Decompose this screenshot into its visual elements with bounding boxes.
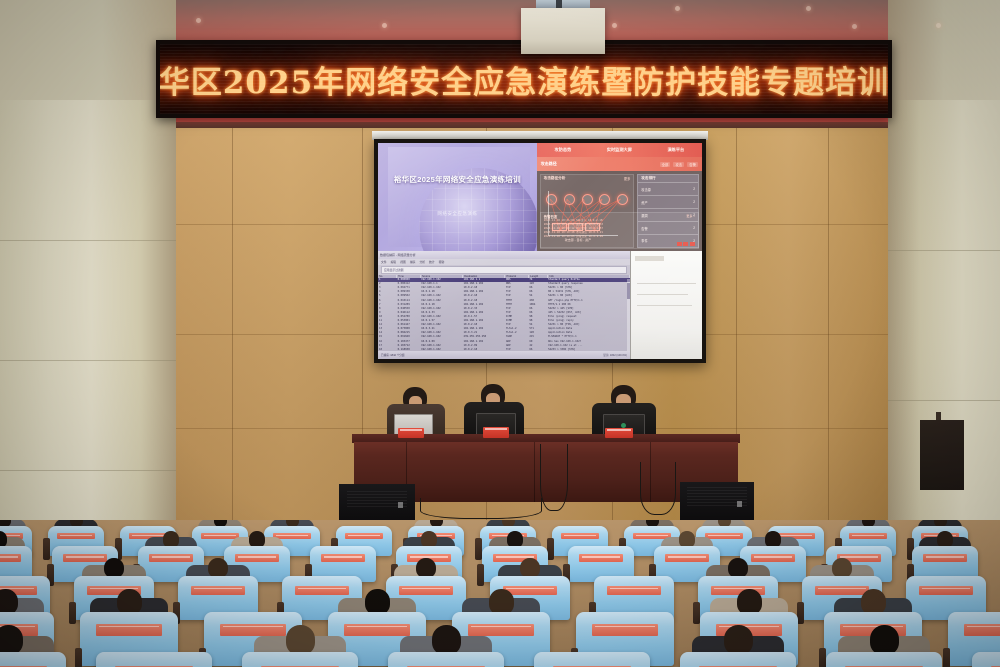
seat-reserved-label [63, 554, 108, 562]
capture-cell: 10.0.2.33 [463, 307, 505, 310]
dashboard-tab[interactable]: 演练平台 [667, 147, 684, 153]
capture-cell: 54 [528, 323, 547, 326]
capture-cell: 239.255.255.250 [463, 335, 505, 338]
capture-cell: 0.010114 [397, 299, 420, 302]
capture-status-right: 显示: 1842 (100.0%) [603, 353, 627, 357]
capture-cell: 66 [528, 307, 547, 310]
capture-cell: 0.103712 [397, 344, 420, 347]
capture-cell: Echo (ping) request [547, 315, 630, 318]
seat-armrest [75, 648, 82, 667]
capture-cell: 192.168.1.102 is at ... [547, 344, 630, 347]
ceiling-light-dot [612, 23, 617, 28]
capture-cell: 10.0.2.09 [463, 344, 505, 347]
capture-cell: 0.091660 [397, 335, 420, 338]
seat-reserved-label [579, 554, 624, 562]
capture-cell: 0.103477 [397, 340, 420, 343]
audience-seat[interactable] [680, 652, 796, 667]
capture-cell: 192.168.1.102 [463, 327, 505, 330]
capture-window-title: 数据包捕获 - 网络流量分析 [380, 253, 416, 257]
display-filter-placeholder: 应用显示过滤器 [384, 268, 404, 272]
capture-packet-row[interactable]: 130.07300810.0.3.21192.168.1.102TLSv1.25… [378, 327, 630, 331]
seat-armrest [547, 538, 554, 560]
rank-row: 攻击源 2 [638, 182, 698, 195]
capture-packet-row[interactable]: 70.03128910.0.2.18192.168.1.102HTTP1064H… [378, 302, 630, 306]
capture-cell: 10.0.2.18 [463, 286, 505, 289]
capture-cell: 10.0.2.18 [420, 303, 462, 306]
capture-packet-row[interactable]: 40.00933810.0.2.18192.168.1.102TCP6680 >… [378, 290, 630, 294]
capture-cell: 12 [378, 323, 397, 326]
audience-seat[interactable] [0, 652, 66, 667]
attendee-head [0, 625, 23, 655]
capture-cell: 192.168.1.1 [463, 278, 505, 281]
capture-cell: 0.031289 [397, 303, 420, 306]
floor-cable [640, 462, 676, 515]
attendee-head [832, 558, 852, 578]
menu-item[interactable]: 捕获 [410, 260, 416, 264]
capture-cell: 445 > 54232 [RST, ACK] [547, 311, 630, 314]
audience-seat[interactable] [972, 652, 1000, 667]
rank-label: 资产 [641, 200, 647, 205]
projector-housing [521, 8, 605, 54]
capture-cell: Standard query 0x1f2a [547, 278, 630, 281]
capture-cell: 10.0.2.18 [463, 294, 505, 297]
name-placard-left [398, 428, 424, 438]
capture-cell: 10.0.1.57 [463, 315, 505, 318]
audience-seating [0, 520, 1000, 667]
menu-item[interactable]: 统计 [429, 260, 435, 264]
ceiling-light-dot [382, 23, 387, 28]
capture-cell: 10.0.2.33 [420, 311, 462, 314]
capture-cell: 54232 > 445 [SYN] [547, 307, 630, 310]
capture-cell: 192.168.1.102 [463, 340, 505, 343]
capture-cell: TCP [505, 323, 528, 326]
capture-cell: 54 [528, 294, 547, 297]
seat-reserved-label [923, 554, 968, 562]
banner-scanlines [160, 44, 888, 114]
attack-source-nodes [546, 194, 627, 205]
capture-cell: 54231 > 80 [FIN, ACK] [547, 323, 630, 326]
seat-reserved-label [849, 533, 887, 540]
capture-menubar: 文件 编辑 视图 捕获 分析 统计 帮助 [378, 259, 630, 265]
rank-row: 资产 2 [638, 195, 698, 208]
attendee-head [520, 558, 540, 578]
seat-reserved-label [468, 624, 535, 636]
rank-value: 2 [693, 187, 695, 191]
capture-cell: 192.168.1.102 [420, 323, 462, 326]
capture-cell: 10 [378, 315, 397, 318]
conference-hall-photo: 裕华区2025年网络安全应急演练暨防护技能专题培训会 裕华区2025年网络安全应… [0, 0, 1000, 667]
capture-cell: ICMP [505, 319, 528, 322]
seat-reserved-label [220, 624, 287, 636]
audience-seat[interactable] [242, 652, 358, 667]
dashboard-tab[interactable]: 实时监测大屏 [607, 147, 632, 153]
capture-cell: 66 [528, 286, 547, 289]
capture-packet-row[interactable]: 60.010114192.168.1.10210.0.2.18HTTP438GE… [378, 298, 630, 302]
name-placard-right [605, 428, 633, 438]
seat-armrest [797, 602, 804, 624]
attendee-head [489, 589, 514, 615]
capture-cell: TCP [505, 286, 528, 289]
dashboard-subtab[interactable]: 攻击 [673, 162, 684, 167]
seat-armrest [943, 648, 950, 667]
capture-cell: 18 [378, 348, 397, 351]
menu-item[interactable]: 文件 [381, 260, 387, 264]
capture-cell: DNS [505, 278, 528, 281]
capture-cell: 60 [528, 340, 547, 343]
log-card-more-link[interactable]: 更多 > [686, 214, 695, 219]
audience-seat[interactable] [534, 652, 650, 667]
capture-cell: TCP [505, 307, 528, 310]
capture-cell: 192.168.1.102 [420, 294, 462, 297]
capture-cell: 14 [378, 331, 397, 334]
attendee-head [117, 589, 142, 615]
capture-cell: 54231 > 80 [ACK] [547, 294, 630, 297]
capture-packet-row[interactable]: 50.009502192.168.1.10210.0.2.18TCP545423… [378, 294, 630, 298]
capture-packet-row[interactable]: 170.103712192.168.1.10210.0.2.09ARP42192… [378, 343, 630, 347]
capture-cell: 571 [528, 327, 547, 330]
seat-armrest [69, 602, 76, 624]
capture-cell: 192.168.1.1 [420, 282, 462, 285]
log-status-chips [677, 242, 695, 246]
menu-item[interactable]: 分析 [419, 260, 425, 264]
attendee-head [724, 625, 753, 655]
capture-cell: M-SEARCH * HTTP/1.1 [547, 335, 630, 338]
seat-reserved-label [665, 554, 710, 562]
capture-cell: 0.046112 [397, 311, 420, 314]
capture-cell: GET /login.php HTTP/1.1 [547, 299, 630, 302]
dashboard-section-bar: 攻击路径 全部 攻击 告警 [537, 157, 702, 171]
capture-statusbar: 已捕获: 1842 个分组 显示: 1842 (100.0%) [378, 351, 630, 359]
capture-cell: 8 [378, 307, 397, 310]
capture-cell: Standard query response [547, 282, 630, 285]
seat-reserved-label [751, 554, 796, 562]
capture-cell: 54233 > 3306 [SYN] [547, 348, 630, 351]
attendee-head [365, 589, 390, 615]
capture-cell: 10.0.2.18 [463, 299, 505, 302]
name-placard-center [483, 427, 509, 438]
ceiling-light-dot [675, 6, 680, 11]
ceiling-light-dot [196, 18, 201, 23]
rank-label: 攻击源 [641, 187, 651, 192]
display-filter-input[interactable]: 应用显示过滤器 [381, 266, 627, 274]
capture-cell: 0.004771 [397, 286, 420, 289]
attendee-head [208, 558, 228, 578]
attendee-head [870, 625, 899, 655]
capture-packet-row[interactable]: 140.084215192.168.1.10210.0.3.21TLSv1.21… [378, 331, 630, 335]
capture-cell: TCP [505, 311, 528, 314]
attendee-head [432, 625, 461, 655]
capture-cell: 192.168.1.102 [463, 303, 505, 306]
capture-cell: 5 [378, 294, 397, 297]
capture-cell: TLSv1.2 [505, 327, 528, 330]
capture-window-titlebar: 数据包捕获 - 网络流量分析 [378, 251, 630, 259]
capture-cell: 4 [378, 290, 397, 293]
capture-cell: 192.168.1.102 [420, 299, 462, 302]
security-dashboard: 攻防态势 实时监测大屏 演练平台 攻击路径 全部 攻击 告警 [537, 143, 702, 251]
capture-cell: 74 [528, 278, 547, 281]
capture-cell: 80 > 54231 [SYN, ACK] [547, 290, 630, 293]
capture-cell: 0.061447 [397, 323, 420, 326]
seat-reserved-label [321, 554, 366, 562]
capture-packet-list[interactable]: 10.000000192.168.1.102192.168.1.1DNS74St… [378, 278, 630, 356]
capture-cell: 54231 > 80 [SYN] [547, 286, 630, 289]
seat-armrest [693, 602, 700, 624]
capture-cell: 10.0.2.18 [463, 323, 505, 326]
capture-cell: 192.168.1.102 [420, 278, 462, 281]
seat-reserved-label [964, 624, 1000, 636]
capture-cell: 1064 [528, 303, 547, 306]
dashboard-section-label: 攻击路径 [541, 161, 557, 167]
dashboard-tab[interactable]: 攻防态势 [555, 147, 572, 153]
capture-cell: 1 [378, 278, 397, 281]
capture-cell: 66 [528, 348, 547, 351]
capture-cell: TCP [505, 348, 528, 351]
graph-node[interactable] [617, 194, 628, 205]
capture-cell: 192.168.1.102 [463, 311, 505, 314]
capture-cell: 2 [378, 282, 397, 285]
seat-reserved-label [96, 624, 163, 636]
seat-reserved-label [705, 533, 743, 540]
capture-cell: 42 [528, 344, 547, 347]
capture-cell: 192.168.1.102 [420, 286, 462, 289]
capture-packet-row[interactable]: 20.000412192.168.1.1192.168.1.102DNS120S… [378, 282, 630, 286]
capture-cell: 7 [378, 303, 397, 306]
seat-armrest [43, 538, 50, 560]
capture-packet-row[interactable]: 100.052780192.168.1.10210.0.1.57ICMP98Ec… [378, 314, 630, 318]
capture-cell: Application Data [547, 327, 630, 330]
stage-monitor-left [339, 484, 415, 524]
capture-status-left: 已捕获: 1842 个分组 [381, 353, 405, 357]
right-pillar [888, 100, 1000, 570]
capture-cell: 192.168.1.102 [420, 335, 462, 338]
capture-cell: 17 [378, 344, 397, 347]
graph-node[interactable] [564, 194, 575, 205]
capture-cell: HTTP/1.1 200 OK [547, 303, 630, 306]
capture-cell: 0.009502 [397, 294, 420, 297]
capture-packet-row[interactable]: 90.04611210.0.2.33192.168.1.102TCP66445 … [378, 310, 630, 314]
capture-cell: 0.000000 [397, 278, 420, 281]
audience-seat[interactable] [826, 652, 942, 667]
capture-packet-row[interactable]: 160.10347710.0.2.09192.168.1.102ARP60Who… [378, 339, 630, 343]
capture-cell: 9 [378, 311, 397, 314]
capture-cell: TCP [505, 290, 528, 293]
audience-seat[interactable] [388, 652, 504, 667]
seat-armrest [477, 564, 484, 586]
seat-reserved-label [592, 624, 659, 636]
graph-node[interactable] [599, 194, 610, 205]
stage-monitor-right [680, 482, 754, 524]
capture-cell: 192.168.1.102 [420, 344, 462, 347]
rank-value: 2 [693, 200, 695, 204]
seat-armrest [819, 648, 826, 667]
attendee-head [0, 589, 18, 615]
capture-cell: 3 [378, 286, 397, 289]
capture-cell: 192.168.1.102 [463, 319, 505, 322]
audience-seat[interactable] [96, 652, 212, 667]
presentation-slide: 裕华区2025年网络安全应急演练培训 网络安全应急演练 [378, 143, 537, 251]
capture-cell: 98 [528, 319, 547, 322]
capture-cell: 0.053901 [397, 319, 420, 322]
seat-reserved-label [607, 586, 661, 596]
capture-cell: 192.168.1.102 [463, 282, 505, 285]
dashboard-subtab[interactable]: 告警 [687, 162, 698, 167]
dashboard-subtab[interactable]: 全部 [660, 162, 671, 167]
capture-packet-row[interactable]: 120.061447192.168.1.10210.0.2.18TCP54542… [378, 323, 630, 327]
alert-log-card: 告警日志 更多 > 2025-11-18 10:21:04 SQL注入 10.0… [540, 212, 699, 249]
menu-item[interactable]: 视图 [400, 260, 406, 264]
capture-cell: ICMP [505, 315, 528, 318]
capture-cell: 98 [528, 315, 547, 318]
wall-cabinet [920, 420, 964, 490]
capture-packet-row[interactable]: 110.05390110.0.1.57192.168.1.102ICMP98Ec… [378, 319, 630, 323]
attendee-head [728, 558, 748, 578]
capture-cell: HTTP [505, 299, 528, 302]
attendee-head [104, 558, 124, 578]
capture-cell: 0.040550 [397, 307, 420, 310]
capture-cell: 0.052780 [397, 315, 420, 318]
capture-cell: HTTP [505, 303, 528, 306]
capture-cell: SSDP [505, 335, 528, 338]
capture-cell: 10.0.2.18 [463, 348, 505, 351]
capture-cell: 192.168.1.102 [420, 348, 462, 351]
capture-cell: 192.168.1.102 [420, 307, 462, 310]
capture-cell: 6 [378, 299, 397, 302]
capture-cell: 10.0.2.18 [420, 290, 462, 293]
seat-reserved-label [344, 624, 411, 636]
seat-reserved-label [235, 554, 280, 562]
seat-reserved-label [191, 586, 245, 596]
secondary-white-panel [630, 251, 702, 359]
capture-cell: 66 [528, 290, 547, 293]
seat-reserved-label [345, 533, 383, 540]
capture-cell: 10.0.3.21 [420, 327, 462, 330]
seat-reserved-label [149, 554, 194, 562]
floor-cable [540, 444, 568, 511]
capture-cell: 10.0.2.09 [420, 340, 462, 343]
capture-cell: Who has 192.168.1.102? [547, 340, 630, 343]
ceiling-light-dot [852, 24, 857, 29]
capture-cell: 10.0.1.57 [420, 319, 462, 322]
capture-cell: 438 [528, 299, 547, 302]
capture-cell: DNS [505, 282, 528, 285]
capture-cell: 192.168.1.102 [463, 290, 505, 293]
capture-cell: Echo (ping) reply [547, 319, 630, 322]
graph-node[interactable] [582, 194, 593, 205]
seat-reserved-label [561, 533, 599, 540]
capture-cell: Application Data [547, 331, 630, 334]
seat-reserved-label [815, 586, 869, 596]
capture-cell: 13 [378, 327, 397, 330]
seat-reserved-label [295, 586, 349, 596]
ceiling-light-dot [936, 23, 941, 28]
capture-cell: TLSv1.2 [505, 331, 528, 334]
ceiling-light-dot [806, 6, 811, 11]
packet-capture-window: 数据包捕获 - 网络流量分析 文件 编辑 视图 捕获 分析 统计 帮助 应用显示… [378, 251, 630, 359]
capture-cell: 10.0.3.21 [463, 331, 505, 334]
capture-packet-row[interactable]: 10.000000192.168.1.102192.168.1.1DNS74St… [378, 278, 630, 282]
capture-cell: 192.168.1.102 [420, 331, 462, 334]
floor-cable [420, 498, 542, 519]
dashboard-top-tabs: 攻防态势 实时监测大屏 演练平台 [537, 143, 702, 157]
log-line: 2025-11-18 10:19:05 异常登录 10.0.2.09 [544, 235, 695, 239]
capture-cell: 0.118930 [397, 348, 420, 351]
menu-item[interactable]: 帮助 [439, 260, 445, 264]
capture-cell: 128 [528, 331, 547, 334]
rank-card-title: 攻击排行 [638, 175, 698, 182]
capture-cell: TCP [505, 294, 528, 297]
capture-cell: 192.168.1.102 [420, 315, 462, 318]
capture-cell: 0.084215 [397, 331, 420, 334]
seat-reserved-label [919, 586, 973, 596]
capture-cell: ARP [505, 340, 528, 343]
attendee-head [416, 558, 436, 578]
seat-reserved-label [399, 586, 453, 596]
menu-item[interactable]: 编辑 [391, 260, 397, 264]
capture-cell: ARP [505, 344, 528, 347]
capture-cell: 16 [378, 340, 397, 343]
slide-title: 裕华区2025年网络安全应急演练培训 [388, 175, 528, 185]
capture-cell: 120 [528, 282, 547, 285]
seat-reserved-label [0, 554, 21, 562]
projection-screen: 裕华区2025年网络安全应急演练培训 网络安全应急演练 攻防态势 实时监测大屏 … [374, 139, 706, 363]
attendee-head [286, 625, 315, 655]
seat-armrest [475, 538, 482, 560]
attendee-head [737, 589, 762, 615]
capture-cell: 0.073008 [397, 327, 420, 330]
capture-packet-row[interactable]: 150.091660192.168.1.102239.255.255.250SS… [378, 335, 630, 339]
capture-cell: 0.000412 [397, 282, 420, 285]
capture-cell: 0.009338 [397, 290, 420, 293]
capture-packet-row[interactable]: 80.040550192.168.1.10210.0.2.33TCP665423… [378, 306, 630, 310]
capture-cell: 11 [378, 319, 397, 322]
attendee-head [861, 589, 886, 615]
capture-cell: 15 [378, 335, 397, 338]
capture-cell: 215 [528, 335, 547, 338]
capture-packet-row[interactable]: 30.004771192.168.1.10210.0.2.18TCP665423… [378, 286, 630, 290]
capture-cell: 66 [528, 311, 547, 314]
left-pillar [0, 100, 176, 570]
slide-subtitle: 网络安全应急演练 [394, 211, 521, 217]
seat-reserved-label [57, 533, 95, 540]
